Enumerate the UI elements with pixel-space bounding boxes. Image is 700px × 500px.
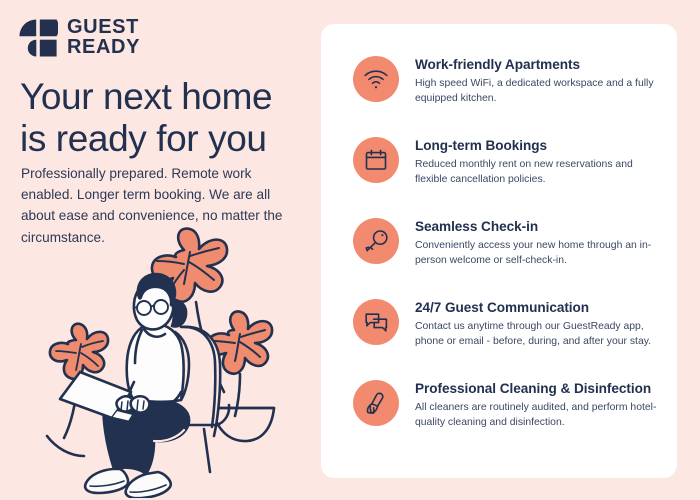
broom-icon — [353, 380, 399, 426]
guestready-grid-logo-icon — [18, 19, 58, 57]
feature-text: Seamless Check-in Conveniently access yo… — [415, 216, 661, 269]
feature-item-work-friendly-apartments[interactable]: Work-friendly Apartments High speed WiFi… — [353, 54, 661, 116]
chat-bubbles-icon — [353, 299, 399, 345]
feature-title: Work-friendly Apartments — [415, 57, 661, 74]
feature-item-long-term-bookings[interactable]: Long-term Bookings Reduced monthly rent … — [353, 135, 661, 197]
feature-description: Reduced monthly rent on new reservations… — [415, 158, 661, 188]
brand-name-line-2: READY — [67, 38, 140, 58]
feature-text: Professional Cleaning & Disinfection All… — [415, 378, 661, 431]
feature-description: Conveniently access your new home throug… — [415, 239, 661, 269]
feature-title: Seamless Check-in — [415, 219, 661, 236]
feature-item-professional-cleaning[interactable]: Professional Cleaning & Disinfection All… — [353, 378, 661, 440]
feature-description: Contact us anytime through our GuestRead… — [415, 320, 661, 350]
left-column: GUEST READY Your next home is ready for … — [0, 0, 320, 500]
headline-line-2: is ready for you — [20, 118, 310, 160]
hero-illustration — [34, 222, 314, 498]
feature-title: 24/7 Guest Communication — [415, 300, 661, 317]
features-card: Work-friendly Apartments High speed WiFi… — [321, 24, 677, 478]
feature-text: Work-friendly Apartments High speed WiFi… — [415, 54, 661, 107]
calendar-icon — [353, 137, 399, 183]
feature-item-seamless-check-in[interactable]: Seamless Check-in Conveniently access yo… — [353, 216, 661, 278]
brand-name-line-1: GUEST — [67, 18, 140, 38]
feature-title: Long-term Bookings — [415, 138, 661, 155]
woman-with-laptop-illustration-icon — [34, 222, 314, 498]
wifi-icon — [353, 56, 399, 102]
feature-item-guest-communication[interactable]: 24/7 Guest Communication Contact us anyt… — [353, 297, 661, 359]
feature-title: Professional Cleaning & Disinfection — [415, 381, 661, 398]
page-title: Your next home is ready for you — [20, 76, 310, 160]
brand-wordmark: GUEST READY — [67, 18, 140, 57]
feature-description: All cleaners are routinely audited, and … — [415, 401, 661, 431]
feature-description: High speed WiFi, a dedicated workspace a… — [415, 77, 661, 107]
headline-line-1: Your next home — [20, 76, 310, 118]
key-icon — [353, 218, 399, 264]
feature-text: Long-term Bookings Reduced monthly rent … — [415, 135, 661, 188]
brand-logo[interactable]: GUEST READY — [18, 18, 140, 57]
feature-text: 24/7 Guest Communication Contact us anyt… — [415, 297, 661, 350]
feature-list: Work-friendly Apartments High speed WiFi… — [321, 24, 677, 440]
